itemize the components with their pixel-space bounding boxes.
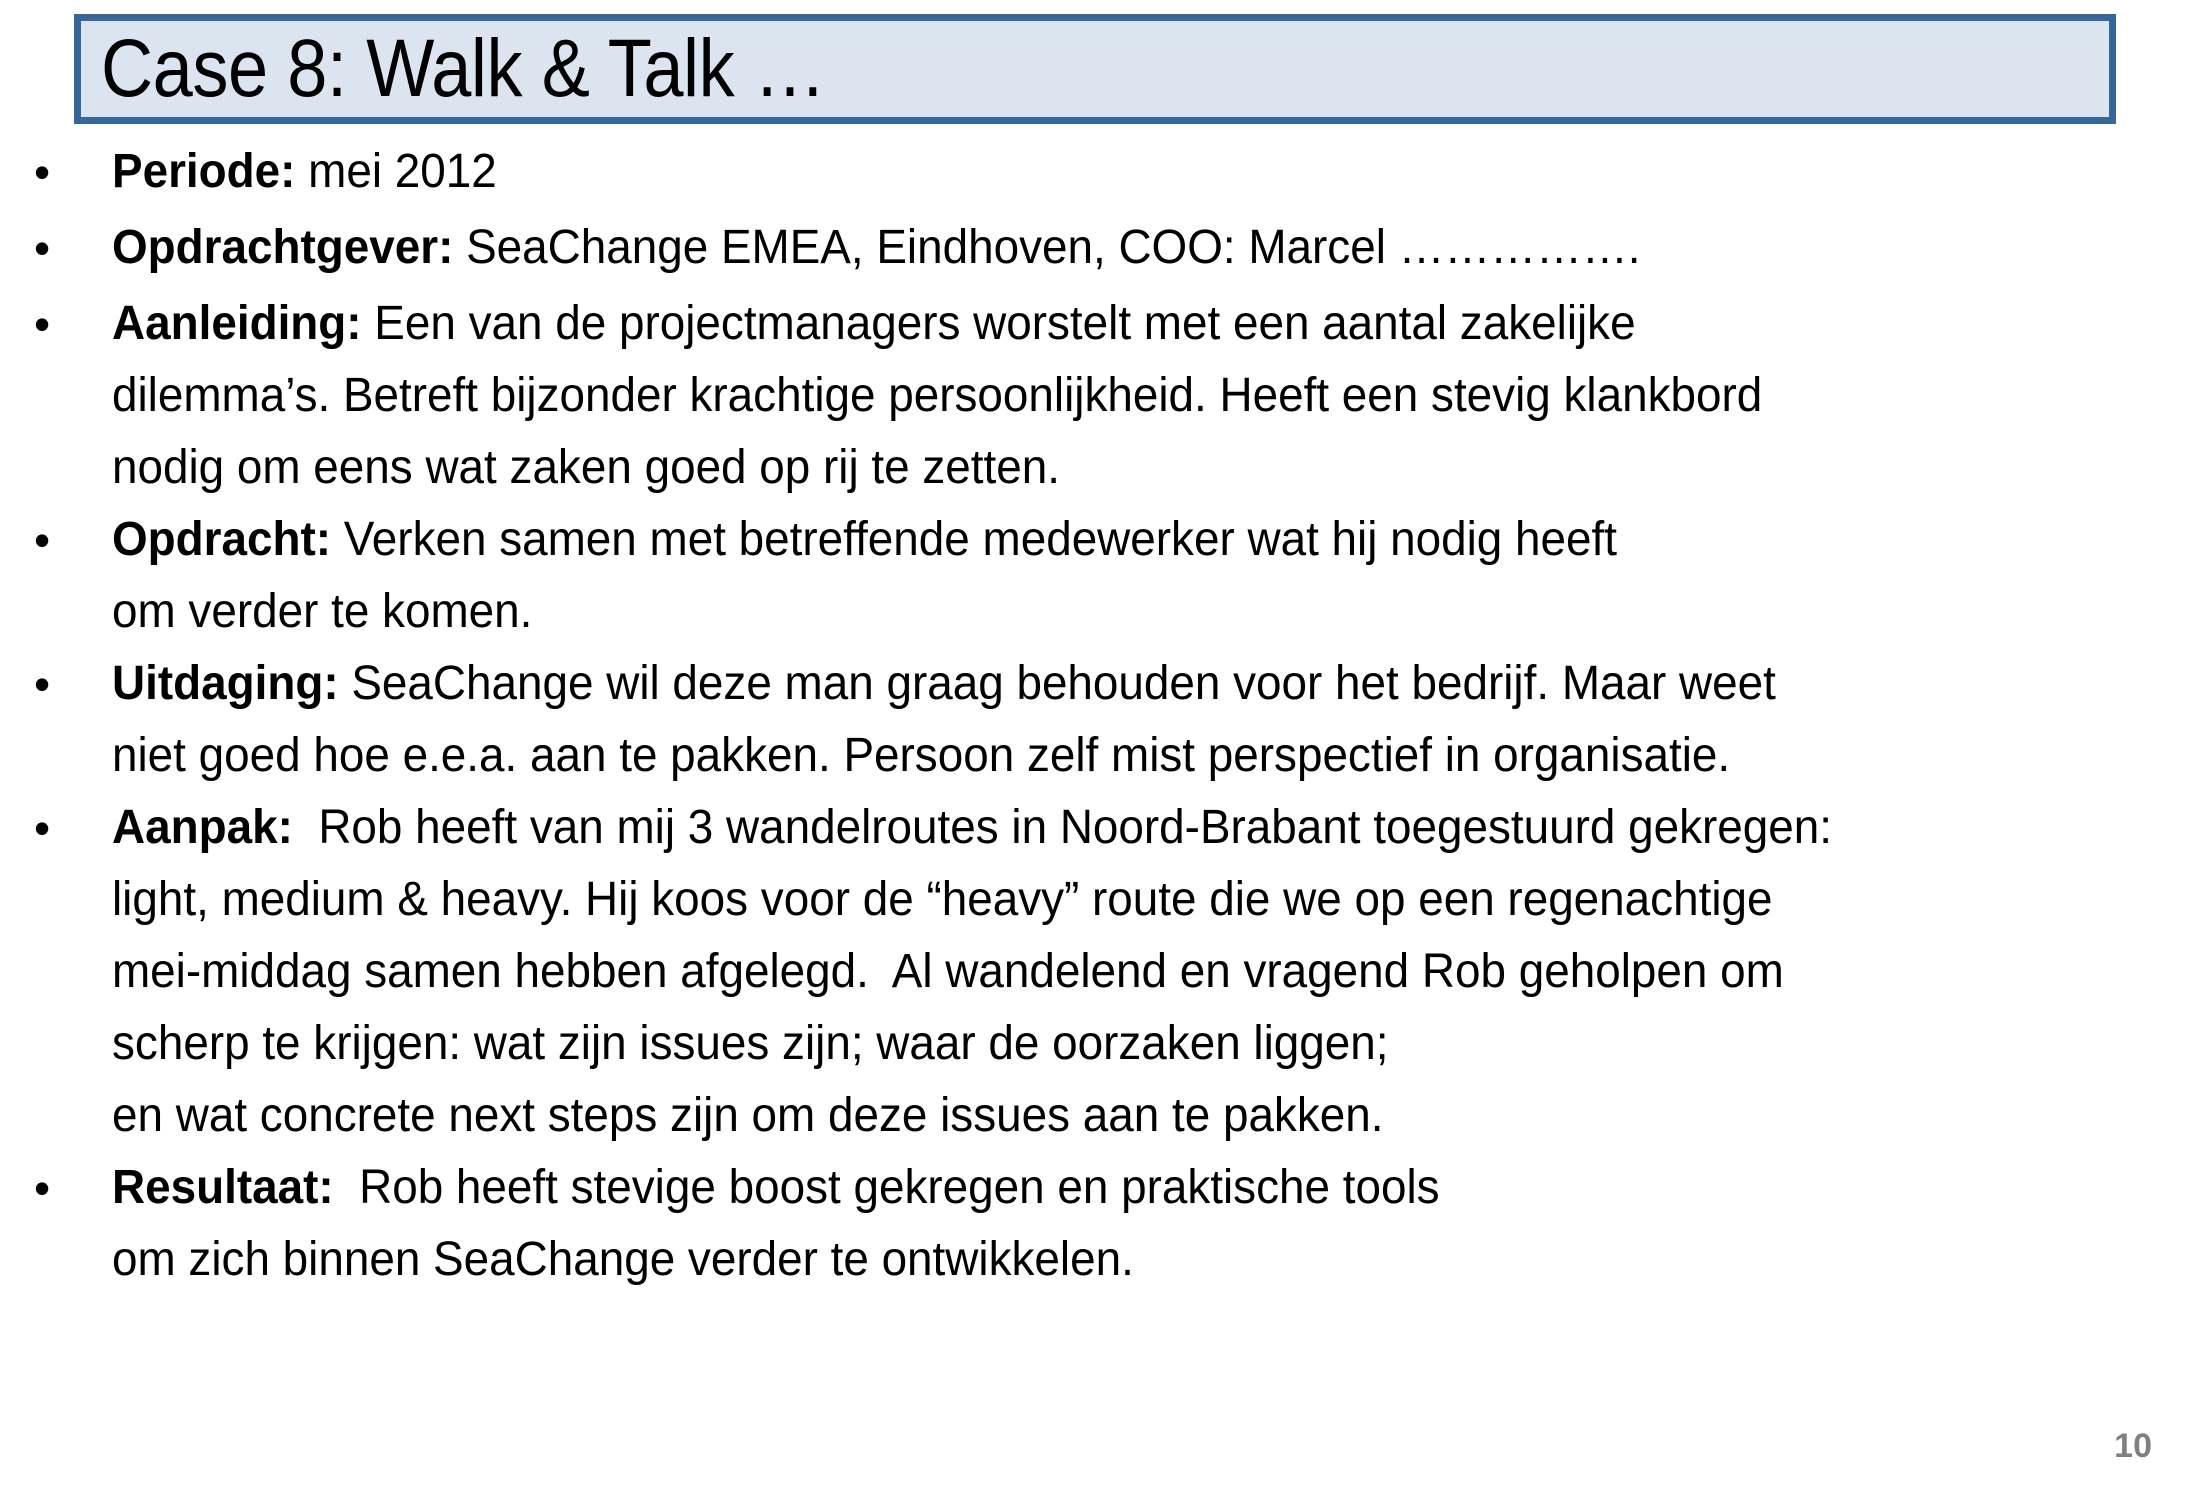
- list-item-line-text: Rob heeft van mij 3 wandelroutes in Noor…: [293, 801, 1832, 854]
- list-item-line: Aanpak: Rob heeft van mij 3 wandelroutes…: [112, 792, 2194, 864]
- list-item-label: Opdracht:: [112, 513, 331, 566]
- bullet-dot-icon: •: [34, 288, 56, 360]
- list-item: • Resultaat: Rob heeft stevige boost gek…: [0, 1152, 2200, 1296]
- list-item-line: Opdracht: Verken samen met betreffende m…: [112, 504, 2194, 576]
- list-item: • Opdrachtgever: SeaChange EMEA, Eindhov…: [0, 212, 2200, 284]
- list-item-line-text: Verken samen met betreffende medewerker …: [331, 513, 1617, 566]
- slide-title-box: Case 8: Walk & Talk …: [74, 14, 2116, 124]
- list-item-line-text: SeaChange EMEA, Eindhoven, COO: Marcel ……: [453, 221, 1640, 274]
- list-item-line: light, medium & heavy. Hij koos voor de …: [112, 864, 2194, 936]
- list-item-line: niet goed hoe e.e.a. aan te pakken. Pers…: [112, 720, 2194, 792]
- list-item-line: mei-middag samen hebben afgelegd. Al wan…: [112, 936, 2194, 1008]
- page-title: Case 8: Walk & Talk …: [101, 15, 826, 123]
- list-item-label: Opdrachtgever:: [112, 221, 453, 274]
- list-item-label: Resultaat:: [112, 1161, 334, 1214]
- list-item: • Aanleiding: Een van de projectmanagers…: [0, 288, 2200, 504]
- list-item-line-text: mei 2012: [295, 145, 496, 198]
- list-item-text: Aanleiding: Een van de projectmanagers w…: [112, 288, 2194, 504]
- list-item-line: Aanleiding: Een van de projectmanagers w…: [112, 288, 2194, 360]
- list-item-line: nodig om eens wat zaken goed op rij te z…: [112, 432, 2194, 504]
- list-item-line-text: SeaChange wil deze man graag behouden vo…: [339, 657, 1776, 710]
- list-item: • Uitdaging: SeaChange wil deze man graa…: [0, 648, 2200, 792]
- list-item-label: Aanleiding:: [112, 297, 362, 350]
- list-item-line-text: Een van de projectmanagers worstelt met …: [362, 297, 1636, 350]
- list-item-line-text: Rob heeft stevige boost gekregen en prak…: [334, 1161, 1440, 1214]
- list-item-line: om zich binnen SeaChange verder te ontwi…: [112, 1224, 2194, 1296]
- list-item-line: en wat concrete next steps zijn om deze …: [112, 1080, 2194, 1152]
- list-item: • Periode: mei 2012: [0, 136, 2200, 208]
- list-item-text: Aanpak: Rob heeft van mij 3 wandelroutes…: [112, 792, 2194, 1152]
- list-item: • Aanpak: Rob heeft van mij 3 wandelrout…: [0, 792, 2200, 1152]
- list-item-text: Periode: mei 2012: [112, 136, 2194, 208]
- list-item-line: scherp te krijgen: wat zijn issues zijn;…: [112, 1008, 2194, 1080]
- list-item-line: Periode: mei 2012: [112, 136, 2194, 208]
- list-item: • Opdracht: Verken samen met betreffende…: [0, 504, 2200, 648]
- bullet-dot-icon: •: [34, 792, 56, 864]
- bullet-list: • Periode: mei 2012 • Opdrachtgever: Sea…: [0, 136, 2200, 1296]
- bullet-dot-icon: •: [34, 504, 56, 576]
- page-number: 10: [2114, 1427, 2152, 1466]
- list-item-line: om verder te komen.: [112, 576, 2194, 648]
- list-item-text: Resultaat: Rob heeft stevige boost gekre…: [112, 1152, 2194, 1296]
- bullet-dot-icon: •: [34, 212, 56, 284]
- bullet-dot-icon: •: [34, 1152, 56, 1224]
- bullet-dot-icon: •: [34, 136, 56, 208]
- list-item-text: Uitdaging: SeaChange wil deze man graag …: [112, 648, 2194, 792]
- list-item-line: Opdrachtgever: SeaChange EMEA, Eindhoven…: [112, 212, 2194, 284]
- list-item-label: Periode:: [112, 145, 295, 198]
- list-item-label: Uitdaging:: [112, 657, 339, 710]
- list-item-line: Uitdaging: SeaChange wil deze man graag …: [112, 648, 2194, 720]
- slide: Case 8: Walk & Talk … • Periode: mei 201…: [0, 0, 2200, 1500]
- list-item-line: Resultaat: Rob heeft stevige boost gekre…: [112, 1152, 2194, 1224]
- bullet-dot-icon: •: [34, 648, 56, 720]
- list-item-line: dilemma’s. Betreft bijzonder krachtige p…: [112, 360, 2194, 432]
- list-item-text: Opdracht: Verken samen met betreffende m…: [112, 504, 2194, 648]
- list-item-label: Aanpak:: [112, 801, 293, 854]
- list-item-text: Opdrachtgever: SeaChange EMEA, Eindhoven…: [112, 212, 2194, 284]
